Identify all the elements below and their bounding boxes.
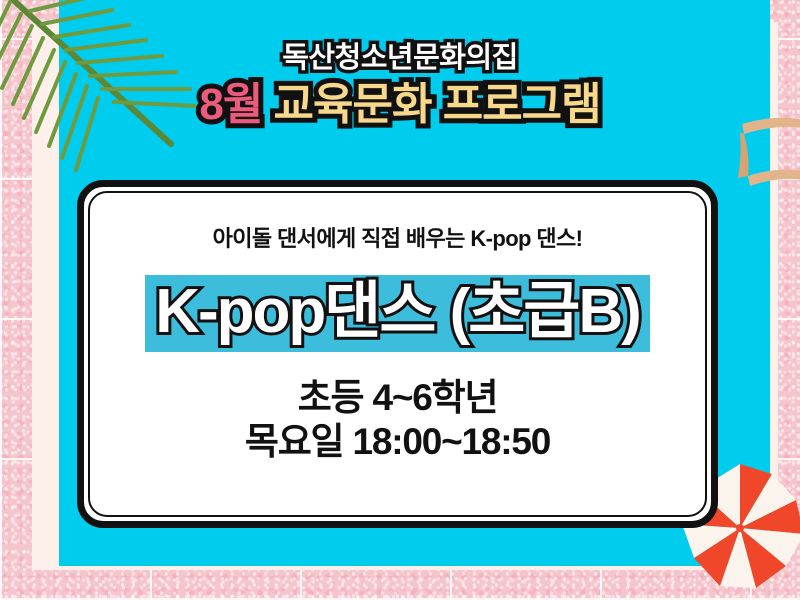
course-title-highlight: K-pop댄스 (초급B) [145,275,650,352]
course-title: K-pop댄스 (초급B) [155,277,640,346]
course-details: 초등 4~6학년 목요일 18:00~18:50 [245,376,550,463]
course-schedule: 목요일 18:00~18:50 [245,420,550,464]
poster-canvas: 독산청소년문화의집 8월 교육문화 프로그램 아이돌 댄서에게 직접 배우는 K… [0,0,800,600]
course-tagline: 아이돌 댄서에게 직접 배우는 K-pop 댄스! [213,221,583,253]
course-card-inner: 아이돌 댄서에게 직접 배우는 K-pop 댄스! K-pop댄스 (초급B) … [88,191,707,517]
target-grade: 초등 4~6학년 [245,376,550,420]
course-card: 아이돌 댄서에게 직접 배우는 K-pop 댄스! K-pop댄스 (초급B) … [77,180,718,528]
